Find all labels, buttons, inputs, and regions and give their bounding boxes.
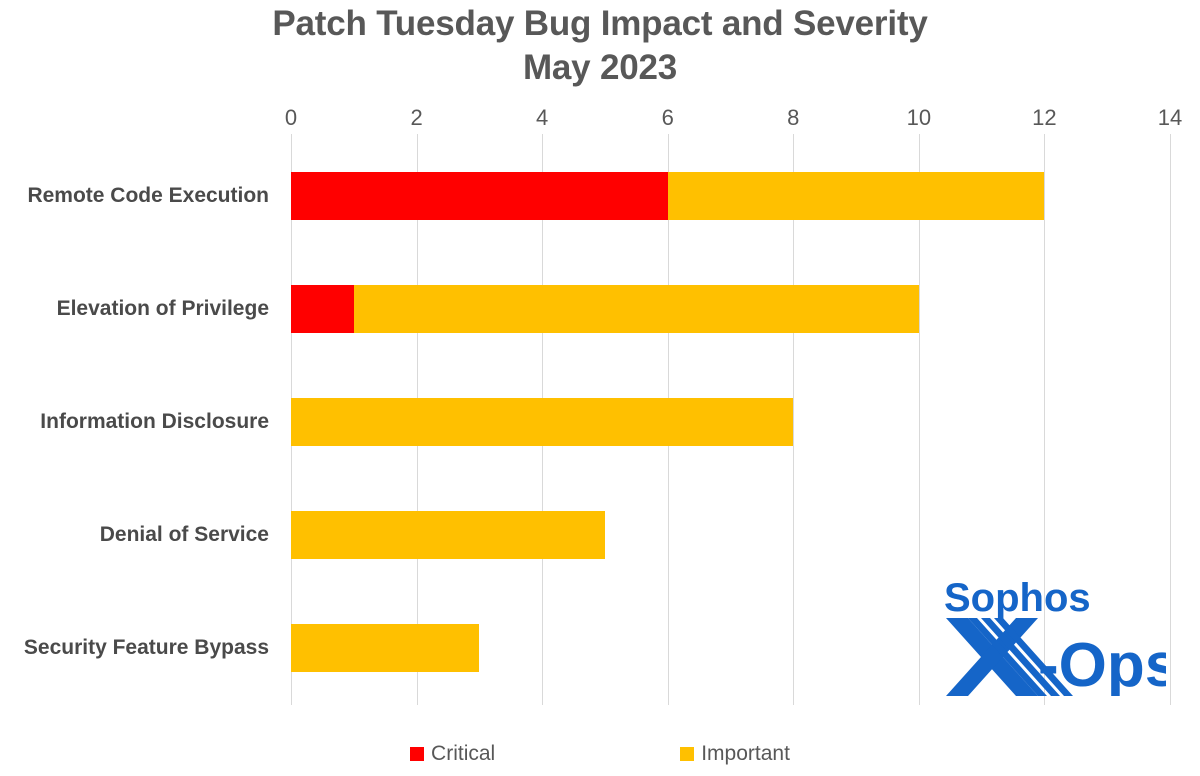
bar-segment-critical[interactable]	[291, 172, 668, 220]
legend-label: Important	[701, 742, 790, 766]
x-tick-label-2: 2	[387, 105, 447, 131]
category-label-4: Security Feature Bypass	[1, 624, 291, 672]
y-axis-category-labels: Remote Code ExecutionElevation of Privil…	[0, 139, 291, 705]
bar-segment-critical[interactable]	[291, 285, 354, 333]
sophos-xops-logo-svg: Sophos -Ops	[938, 578, 1166, 696]
bar-segment-important[interactable]	[291, 624, 479, 672]
chart-title-line-2: May 2023	[0, 46, 1200, 90]
bar-segment-important[interactable]	[354, 285, 919, 333]
tick-mark-2	[417, 134, 418, 139]
tick-mark-12	[1044, 134, 1045, 139]
page-title: Patch Tuesday Bug Impact and Severity Ma…	[0, 0, 1200, 90]
chart-legend: CriticalImportant	[0, 742, 1200, 766]
legend-swatch-important	[680, 747, 694, 761]
tick-mark-14	[1170, 134, 1171, 139]
chart-title-line-1: Patch Tuesday Bug Impact and Severity	[0, 0, 1200, 46]
x-tick-label-14: 14	[1140, 105, 1200, 131]
legend-item-important[interactable]: Important	[680, 742, 790, 766]
tick-mark-8	[793, 134, 794, 139]
gridline-10	[919, 139, 920, 705]
tick-mark-10	[919, 134, 920, 139]
gridline-14	[1170, 139, 1171, 705]
tick-mark-6	[668, 134, 669, 139]
category-label-3: Denial of Service	[1, 511, 291, 559]
category-label-2: Information Disclosure	[1, 398, 291, 446]
x-tick-label-10: 10	[889, 105, 949, 131]
x-tick-label-8: 8	[763, 105, 823, 131]
x-tick-label-6: 6	[638, 105, 698, 131]
category-label-0: Remote Code Execution	[1, 172, 291, 220]
x-tick-label-12: 12	[1014, 105, 1074, 131]
sophos-xops-logo: Sophos -Ops	[938, 578, 1166, 696]
gridline-8	[793, 139, 794, 705]
tick-mark-4	[542, 134, 543, 139]
legend-item-critical[interactable]: Critical	[410, 742, 495, 766]
x-tick-label-4: 4	[512, 105, 572, 131]
x-tick-label-0: 0	[261, 105, 321, 131]
logo-product-text: -Ops	[1038, 631, 1166, 696]
bar-segment-important[interactable]	[291, 398, 793, 446]
category-label-1: Elevation of Privilege	[1, 285, 291, 333]
bar-segment-important[interactable]	[668, 172, 1045, 220]
tick-mark-0	[291, 134, 292, 139]
legend-swatch-critical	[410, 747, 424, 761]
bar-segment-important[interactable]	[291, 511, 605, 559]
legend-label: Critical	[431, 742, 495, 766]
logo-brand-text: Sophos	[944, 578, 1091, 620]
